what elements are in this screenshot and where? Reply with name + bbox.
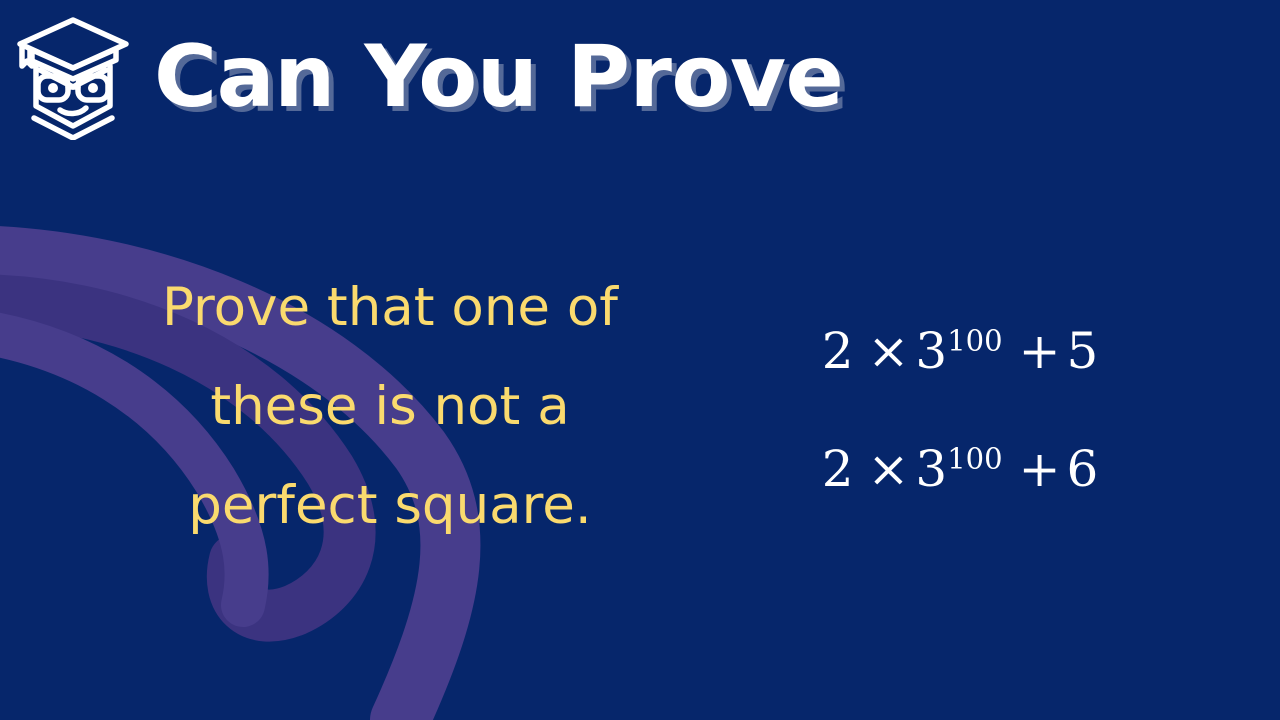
equation-addend: 5 (1066, 322, 1098, 380)
multiplication-sign: × (868, 440, 910, 498)
equation-row: 2×3100+6 (730, 410, 1190, 528)
equation-exponent: 100 (947, 323, 1002, 357)
plus-sign: + (1019, 440, 1061, 498)
slide-canvas: Can You Prove Prove that one of these is… (0, 0, 1280, 720)
brand-header: Can You Prove (14, 14, 843, 140)
equation-row: 2×3100+5 (730, 292, 1190, 410)
equation-coefficient: 2 (822, 322, 854, 380)
equation-addend: 6 (1066, 440, 1098, 498)
prompt-text: Prove that one of these is not a perfect… (60, 258, 720, 555)
multiplication-sign: × (868, 322, 910, 380)
equation-base: 3 (915, 322, 947, 380)
graduate-face-icon (14, 14, 132, 140)
prompt-line-2: these is not a (60, 357, 720, 456)
equation-base: 3 (915, 440, 947, 498)
page-title: Can You Prove (154, 34, 843, 120)
equation-exponent: 100 (947, 441, 1002, 475)
equation-coefficient: 2 (822, 440, 854, 498)
equation-list: 2×3100+5 2×3100+6 (730, 292, 1190, 528)
plus-sign: + (1019, 322, 1061, 380)
prompt-line-1: Prove that one of (60, 258, 720, 357)
prompt-line-3: perfect square. (60, 456, 720, 555)
